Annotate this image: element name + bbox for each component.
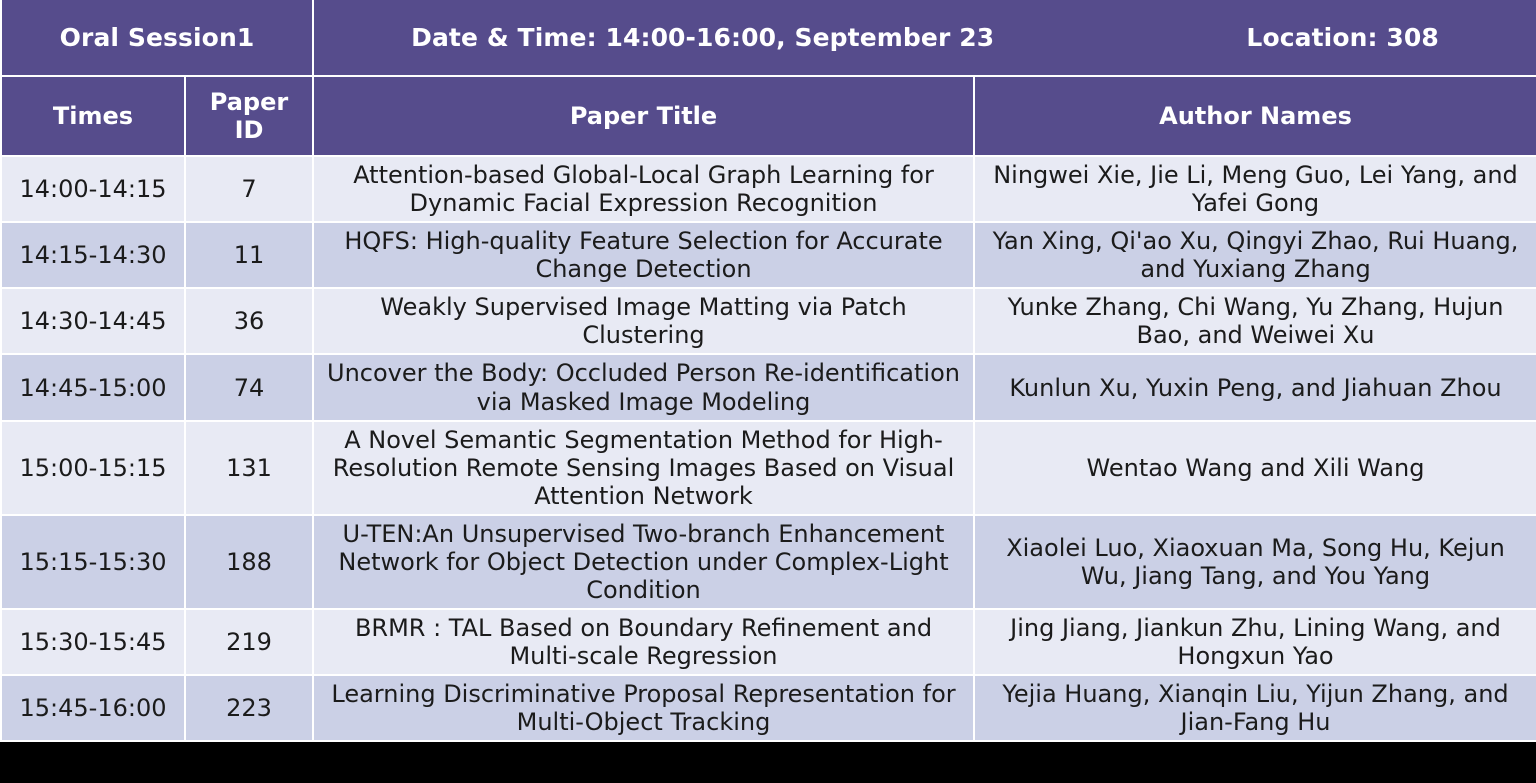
row-authors: Xiaolei Luo, Xiaoxuan Ma, Song Hu, Kejun…: [974, 515, 1536, 609]
row-authors: Yejia Huang, Xianqin Liu, Yijun Zhang, a…: [974, 675, 1536, 741]
row-time: 14:15-14:30: [1, 222, 185, 288]
table-row: 15:45-16:00 223 Learning Discriminative …: [1, 675, 1536, 741]
row-authors: Yunke Zhang, Chi Wang, Yu Zhang, Hujun B…: [974, 288, 1536, 354]
column-header-author-names: Author Names: [974, 76, 1536, 156]
row-authors: Kunlun Xu, Yuxin Peng, and Jiahuan Zhou: [974, 354, 1536, 420]
row-time: 15:00-15:15: [1, 421, 185, 515]
table-row: 14:15-14:30 11 HQFS: High-quality Featur…: [1, 222, 1536, 288]
row-authors: Jing Jiang, Jiankun Zhu, Lining Wang, an…: [974, 609, 1536, 675]
slide-bottom-bar: [0, 763, 1536, 783]
row-paper-id: 7: [185, 156, 313, 222]
session-datetime-location-cell: Date & Time: 14:00-16:00, September 23 L…: [313, 0, 1536, 76]
oral-session-schedule-table: Oral Session1 Date & Time: 14:00-16:00, …: [0, 0, 1536, 742]
table-row: 15:15-15:30 188 U-TEN:An Unsupervised Tw…: [1, 515, 1536, 609]
row-paper-id: 188: [185, 515, 313, 609]
column-header-times: Times: [1, 76, 185, 156]
row-time: 14:00-14:15: [1, 156, 185, 222]
row-time: 14:45-15:00: [1, 354, 185, 420]
row-time: 15:30-15:45: [1, 609, 185, 675]
row-paper-title: U-TEN:An Unsupervised Two-branch Enhance…: [313, 515, 974, 609]
row-authors: Wentao Wang and Xili Wang: [974, 421, 1536, 515]
row-paper-title: Attention-based Global-Local Graph Learn…: [313, 156, 974, 222]
row-paper-title: Learning Discriminative Proposal Represe…: [313, 675, 974, 741]
row-paper-id: 131: [185, 421, 313, 515]
column-header-row: Times Paper ID Paper Title Author Names: [1, 76, 1536, 156]
row-paper-title: Uncover the Body: Occluded Person Re-ide…: [313, 354, 974, 420]
slide-canvas: Oral Session1 Date & Time: 14:00-16:00, …: [0, 0, 1536, 783]
row-paper-title: BRMR : TAL Based on Boundary Refinement …: [313, 609, 974, 675]
row-time: 14:30-14:45: [1, 288, 185, 354]
row-paper-id: 74: [185, 354, 313, 420]
row-paper-id: 219: [185, 609, 313, 675]
table-row: 14:00-14:15 7 Attention-based Global-Loc…: [1, 156, 1536, 222]
column-header-paper-title: Paper Title: [313, 76, 974, 156]
session-header-row: Oral Session1 Date & Time: 14:00-16:00, …: [1, 0, 1536, 76]
session-datetime: Date & Time: 14:00-16:00, September 23: [411, 23, 994, 52]
row-authors: Yan Xing, Qi'ao Xu, Qingyi Zhao, Rui Hua…: [974, 222, 1536, 288]
session-name: Oral Session1: [1, 0, 313, 76]
table-row: 14:45-15:00 74 Uncover the Body: Occlude…: [1, 354, 1536, 420]
row-paper-title: Weakly Supervised Image Matting via Patc…: [313, 288, 974, 354]
table-row: 14:30-14:45 36 Weakly Supervised Image M…: [1, 288, 1536, 354]
row-paper-id: 36: [185, 288, 313, 354]
table-row: 15:30-15:45 219 BRMR : TAL Based on Boun…: [1, 609, 1536, 675]
row-paper-title: A Novel Semantic Segmentation Method for…: [313, 421, 974, 515]
table-row: 15:00-15:15 131 A Novel Semantic Segment…: [1, 421, 1536, 515]
session-location: Location: 308: [1176, 23, 1438, 52]
row-paper-title: HQFS: High-quality Feature Selection for…: [313, 222, 974, 288]
row-paper-id: 11: [185, 222, 313, 288]
row-authors: Ningwei Xie, Jie Li, Meng Guo, Lei Yang,…: [974, 156, 1536, 222]
column-header-paper-id: Paper ID: [185, 76, 313, 156]
row-paper-id: 223: [185, 675, 313, 741]
row-time: 15:15-15:30: [1, 515, 185, 609]
row-time: 15:45-16:00: [1, 675, 185, 741]
